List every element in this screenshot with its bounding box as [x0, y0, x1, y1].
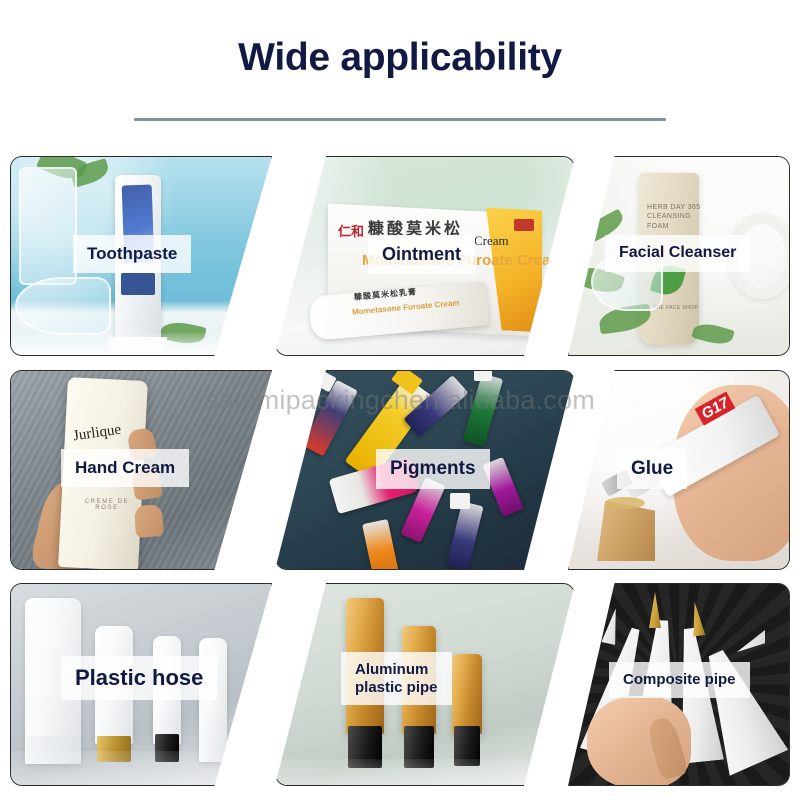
tube-brand-block [121, 273, 155, 295]
reflective-surface [276, 759, 574, 785]
cell-ointment[interactable]: 仁和 糠酸莫米松 Cream Mometasone Furoate Cream … [275, 156, 575, 356]
paint-cap [474, 371, 492, 381]
cell-label-ointment: Ointment [368, 235, 475, 274]
cell-label-composite-pipe: Composite pipe [609, 662, 750, 698]
cell-label-glue: Glue [617, 449, 687, 489]
reflective-surface [11, 751, 271, 785]
cell-plastic-hose[interactable]: Plastic hose [10, 583, 272, 786]
title-divider [134, 118, 666, 121]
cell-label-facial-cleanser: Facial Cleanser [605, 235, 750, 272]
brand-logo-cn: 仁和 [338, 221, 364, 240]
cell-label-aluminum-plastic-pipe: Aluminum plastic pipe [341, 652, 452, 705]
cleanser-tube-text: HERB DAY 365CLEANSINGFOAM [647, 203, 701, 231]
carton-cream-word: Cream [474, 233, 509, 249]
cell-aluminum-plastic-pipe[interactable]: Aluminum plastic pipe [275, 583, 575, 786]
cell-pigments[interactable]: Pigments [275, 370, 575, 570]
wood-block [597, 501, 655, 561]
carton-red-chip [514, 219, 534, 231]
grid-row-1: Toothpaste 仁和 糠酸莫米松 Cream Mometasone Fur… [0, 156, 800, 356]
glue-bead [605, 497, 645, 509]
poster-page: Wide applicability [0, 0, 800, 800]
cell-label-plastic-hose: Plastic hose [61, 656, 217, 700]
page-title: Wide applicability [0, 36, 800, 80]
cell-label-pigments: Pigments [376, 449, 490, 489]
finger [134, 504, 164, 538]
header: Wide applicability [0, 0, 800, 150]
cell-label-hand-cream: Hand Cream [61, 449, 189, 487]
paint-cap [450, 493, 470, 509]
applications-grid: Toothpaste 仁和 糠酸莫米松 Cream Mometasone Fur… [0, 150, 800, 800]
glass-jar-lying [15, 277, 111, 335]
grid-row-2: Jurlique CREME DEROSE Hand Cream [0, 370, 800, 570]
cell-composite-pipe[interactable]: Composite pipe [568, 583, 790, 786]
cell-hand-cream[interactable]: Jurlique CREME DEROSE Hand Cream [10, 370, 272, 570]
cell-glue[interactable]: G17 Glue [568, 370, 790, 570]
table-surface [11, 333, 271, 355]
grid-row-3: Plastic hose Aluminum plastic pipe [0, 583, 800, 786]
cell-toothpaste[interactable]: Toothpaste [10, 156, 272, 356]
cleanser-brand-text: THE FACE SHOP [653, 305, 698, 312]
cell-label-toothpaste: Toothpaste [73, 235, 191, 273]
cell-facial-cleanser[interactable]: HERB DAY 365CLEANSINGFOAM THE FACE SHOP … [568, 156, 790, 356]
gold-tube-small [452, 654, 482, 734]
tube-variant-text: CREME DEROSE [79, 499, 135, 511]
glass-vase [19, 167, 77, 285]
